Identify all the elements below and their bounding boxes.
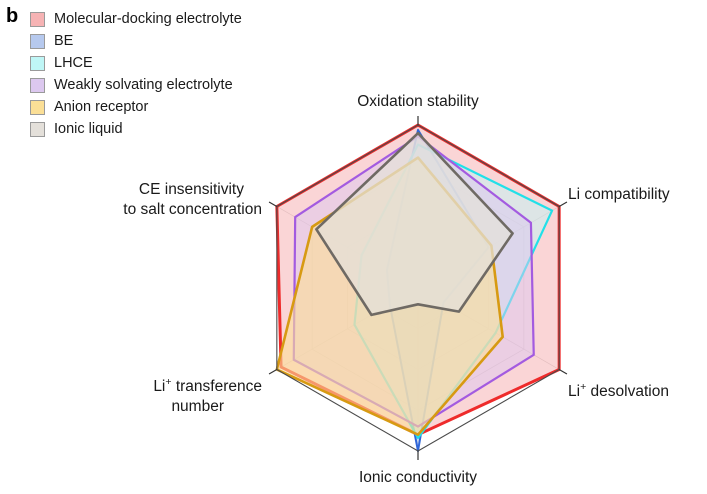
axis-label: CE insensitivity — [139, 181, 244, 198]
axis-label: Li+ desolvation — [568, 381, 669, 400]
axis-label: Li compatibility — [568, 186, 670, 203]
radar-chart-svg: Oxidation stabilityLi compatibilityLi+ d… — [0, 0, 707, 494]
axis-tick — [559, 202, 567, 207]
axis-label: Li+ transference — [153, 376, 262, 395]
axis-label: Oxidation stability — [357, 93, 479, 110]
radar-series-layer — [277, 125, 559, 451]
axis-label: Ionic conductivity — [359, 469, 477, 486]
axis-label: number — [171, 398, 224, 415]
axis-tick — [269, 202, 277, 207]
axis-tick — [269, 370, 277, 375]
axis-label: to salt concentration — [123, 201, 262, 218]
axis-tick — [559, 370, 567, 375]
radar-chart: Oxidation stabilityLi compatibilityLi+ d… — [0, 0, 707, 494]
